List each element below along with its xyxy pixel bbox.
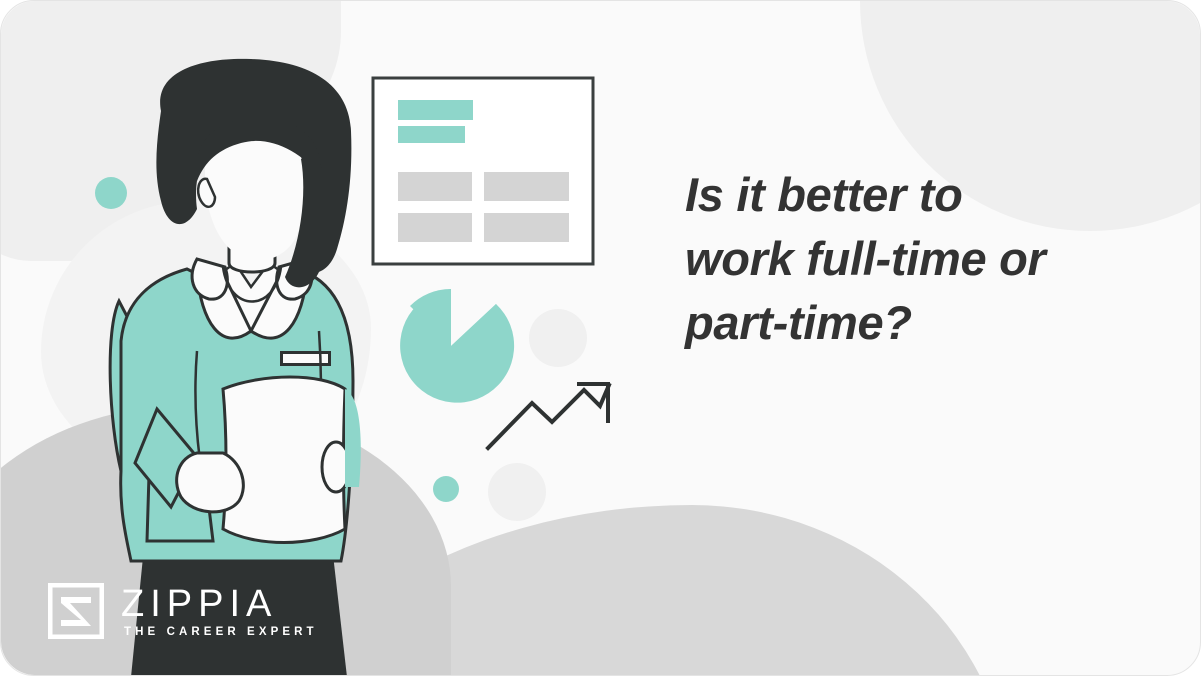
zippia-logo[interactable]: ZIPPIA THE CAREER EXPERT — [48, 583, 318, 639]
growth-arrow-icon — [488, 384, 609, 448]
headline-line-3: part-time? — [685, 291, 1155, 355]
zippia-wordmark: ZIPPIA — [121, 585, 318, 623]
name-badge-icon — [280, 351, 331, 366]
page-title: Is it better to work full-time or part-t… — [685, 163, 1155, 355]
zippia-logo-text: ZIPPIA THE CAREER EXPERT — [121, 585, 318, 638]
zippia-tagline: THE CAREER EXPERT — [121, 626, 318, 638]
headline-line-1: Is it better to — [685, 163, 1155, 227]
zippia-z-mark-icon — [48, 583, 104, 639]
document-card-icon — [373, 78, 593, 264]
illustration — [1, 1, 681, 676]
hand-icon — [177, 453, 244, 512]
pie-chart-icon — [400, 289, 514, 403]
headline-line-2: work full-time or — [685, 227, 1155, 291]
banner-card: Is it better to work full-time or part-t… — [0, 0, 1201, 676]
